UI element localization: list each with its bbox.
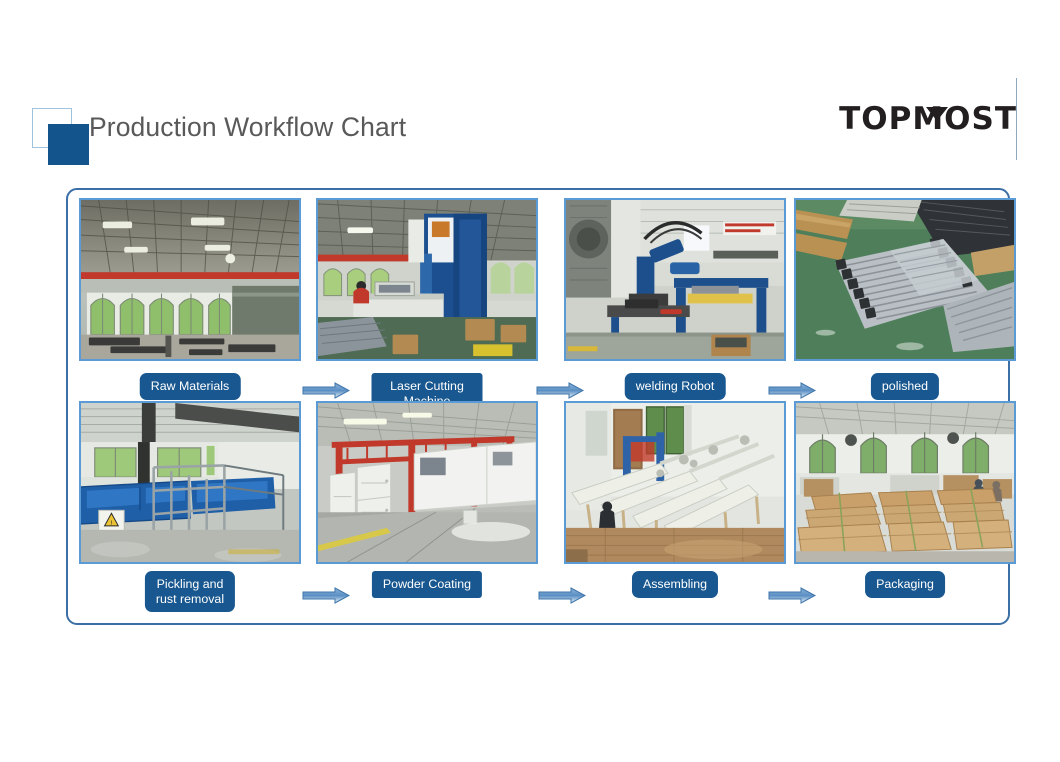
title-square-logo-icon (32, 108, 94, 164)
workflow-step-laser-cutting[interactable]: Laser Cutting Machine (316, 198, 538, 401)
workflow-row-2: ! P (68, 401, 1012, 604)
header-vertical-divider (1016, 78, 1017, 160)
step-label: Raw Materials (140, 373, 241, 400)
workflow-step-packaging[interactable]: Packaging (794, 401, 1016, 604)
logo-triangle-icon (926, 107, 948, 121)
square-solid-shape (48, 124, 89, 165)
step-label: Packaging (865, 571, 945, 598)
photo-pickling-rust-removal: ! (79, 401, 301, 564)
workflow-step-powder-coating[interactable]: Powder Coating (316, 401, 538, 604)
step-label: Powder Coating (372, 571, 482, 598)
workflow-row-1: Raw Materials (68, 198, 1012, 401)
workflow-frame: Raw Materials (66, 188, 1010, 625)
photo-packaging-cartons (794, 401, 1016, 564)
photo-polished-metal-parts (794, 198, 1016, 361)
step-label: Assembling (632, 571, 718, 598)
workflow-step-pickling-rust-removal[interactable]: ! P (79, 401, 301, 604)
photo-assembling-workshop (564, 401, 786, 564)
photo-powder-coating-line (316, 401, 538, 564)
page-title: Production Workflow Chart (89, 112, 406, 143)
step-label: polished (871, 373, 939, 400)
photo-laser-cutting-machine (316, 198, 538, 361)
svg-text:!: ! (110, 520, 112, 527)
step-label: Pickling and rust removal (145, 571, 235, 612)
page-header: Production Workflow Chart TOPMOST (0, 0, 1060, 180)
workflow-step-polished[interactable]: polished (794, 198, 1016, 401)
photo-welding-robot (564, 198, 786, 361)
step-label: welding Robot (625, 373, 726, 400)
photo-warehouse-raw-materials (79, 198, 301, 361)
brand-logo: TOPMOST (839, 101, 1017, 143)
workflow-step-assembling[interactable]: Assembling (564, 401, 786, 604)
workflow-step-raw-materials[interactable]: Raw Materials (79, 198, 301, 401)
workflow-step-welding-robot[interactable]: welding Robot (564, 198, 786, 401)
